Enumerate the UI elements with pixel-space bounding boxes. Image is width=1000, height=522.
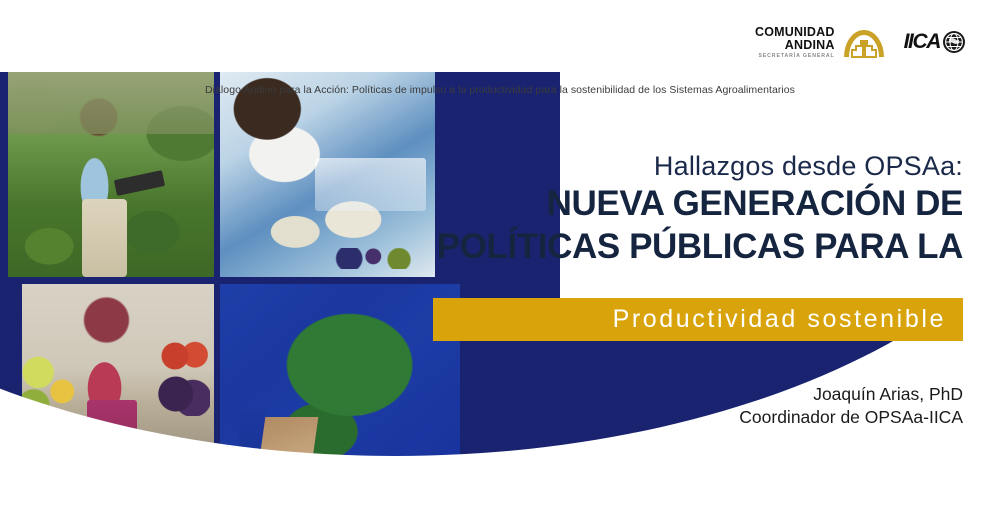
photo-collage xyxy=(0,72,470,522)
presentation-slide: COMUNIDAD ANDINA SECRETARÍA GENERAL IICA… xyxy=(0,0,1000,522)
logo-bar: COMUNIDAD ANDINA SECRETARÍA GENERAL IICA xyxy=(755,26,966,59)
globe-icon xyxy=(942,30,966,54)
title-block: Hallazgos desde OPSAa: NUEVA GENERACIÓN … xyxy=(283,152,963,268)
iica-logo: IICA xyxy=(904,30,966,54)
author-block: Joaquín Arias, PhD Coordinador de OPSAa-… xyxy=(463,383,963,430)
title-line-2: POLÍTICAS PÚBLICAS PARA LA xyxy=(283,226,963,267)
title-kicker: Hallazgos desde OPSAa: xyxy=(283,152,963,181)
author-name: Joaquín Arias, PhD xyxy=(463,383,963,406)
title-highlight-banner: Productividad sostenible xyxy=(433,298,963,341)
title-highlight-text: Productividad sostenible xyxy=(613,305,963,334)
comunidad-andina-line2: ANDINA xyxy=(755,39,835,52)
event-subtitle: Diálogo Andino para la Acción: Políticas… xyxy=(0,84,1000,96)
photo-satellite-south-america xyxy=(220,284,460,522)
right-white-strip xyxy=(963,0,1000,522)
andean-arch-icon xyxy=(842,26,886,58)
author-role: Coordinador de OPSAa-IICA xyxy=(463,406,963,429)
comunidad-andina-logo: COMUNIDAD ANDINA SECRETARÍA GENERAL xyxy=(755,26,886,59)
comunidad-andina-line3: SECRETARÍA GENERAL xyxy=(755,54,835,59)
photo-farmer-phone-coffee-field xyxy=(8,72,214,277)
iica-wordmark: IICA xyxy=(904,30,940,54)
comunidad-andina-line1: COMUNIDAD xyxy=(755,26,835,39)
photo-market-vendor-fruits xyxy=(22,284,214,484)
title-line-1: NUEVA GENERACIÓN DE xyxy=(283,183,963,224)
